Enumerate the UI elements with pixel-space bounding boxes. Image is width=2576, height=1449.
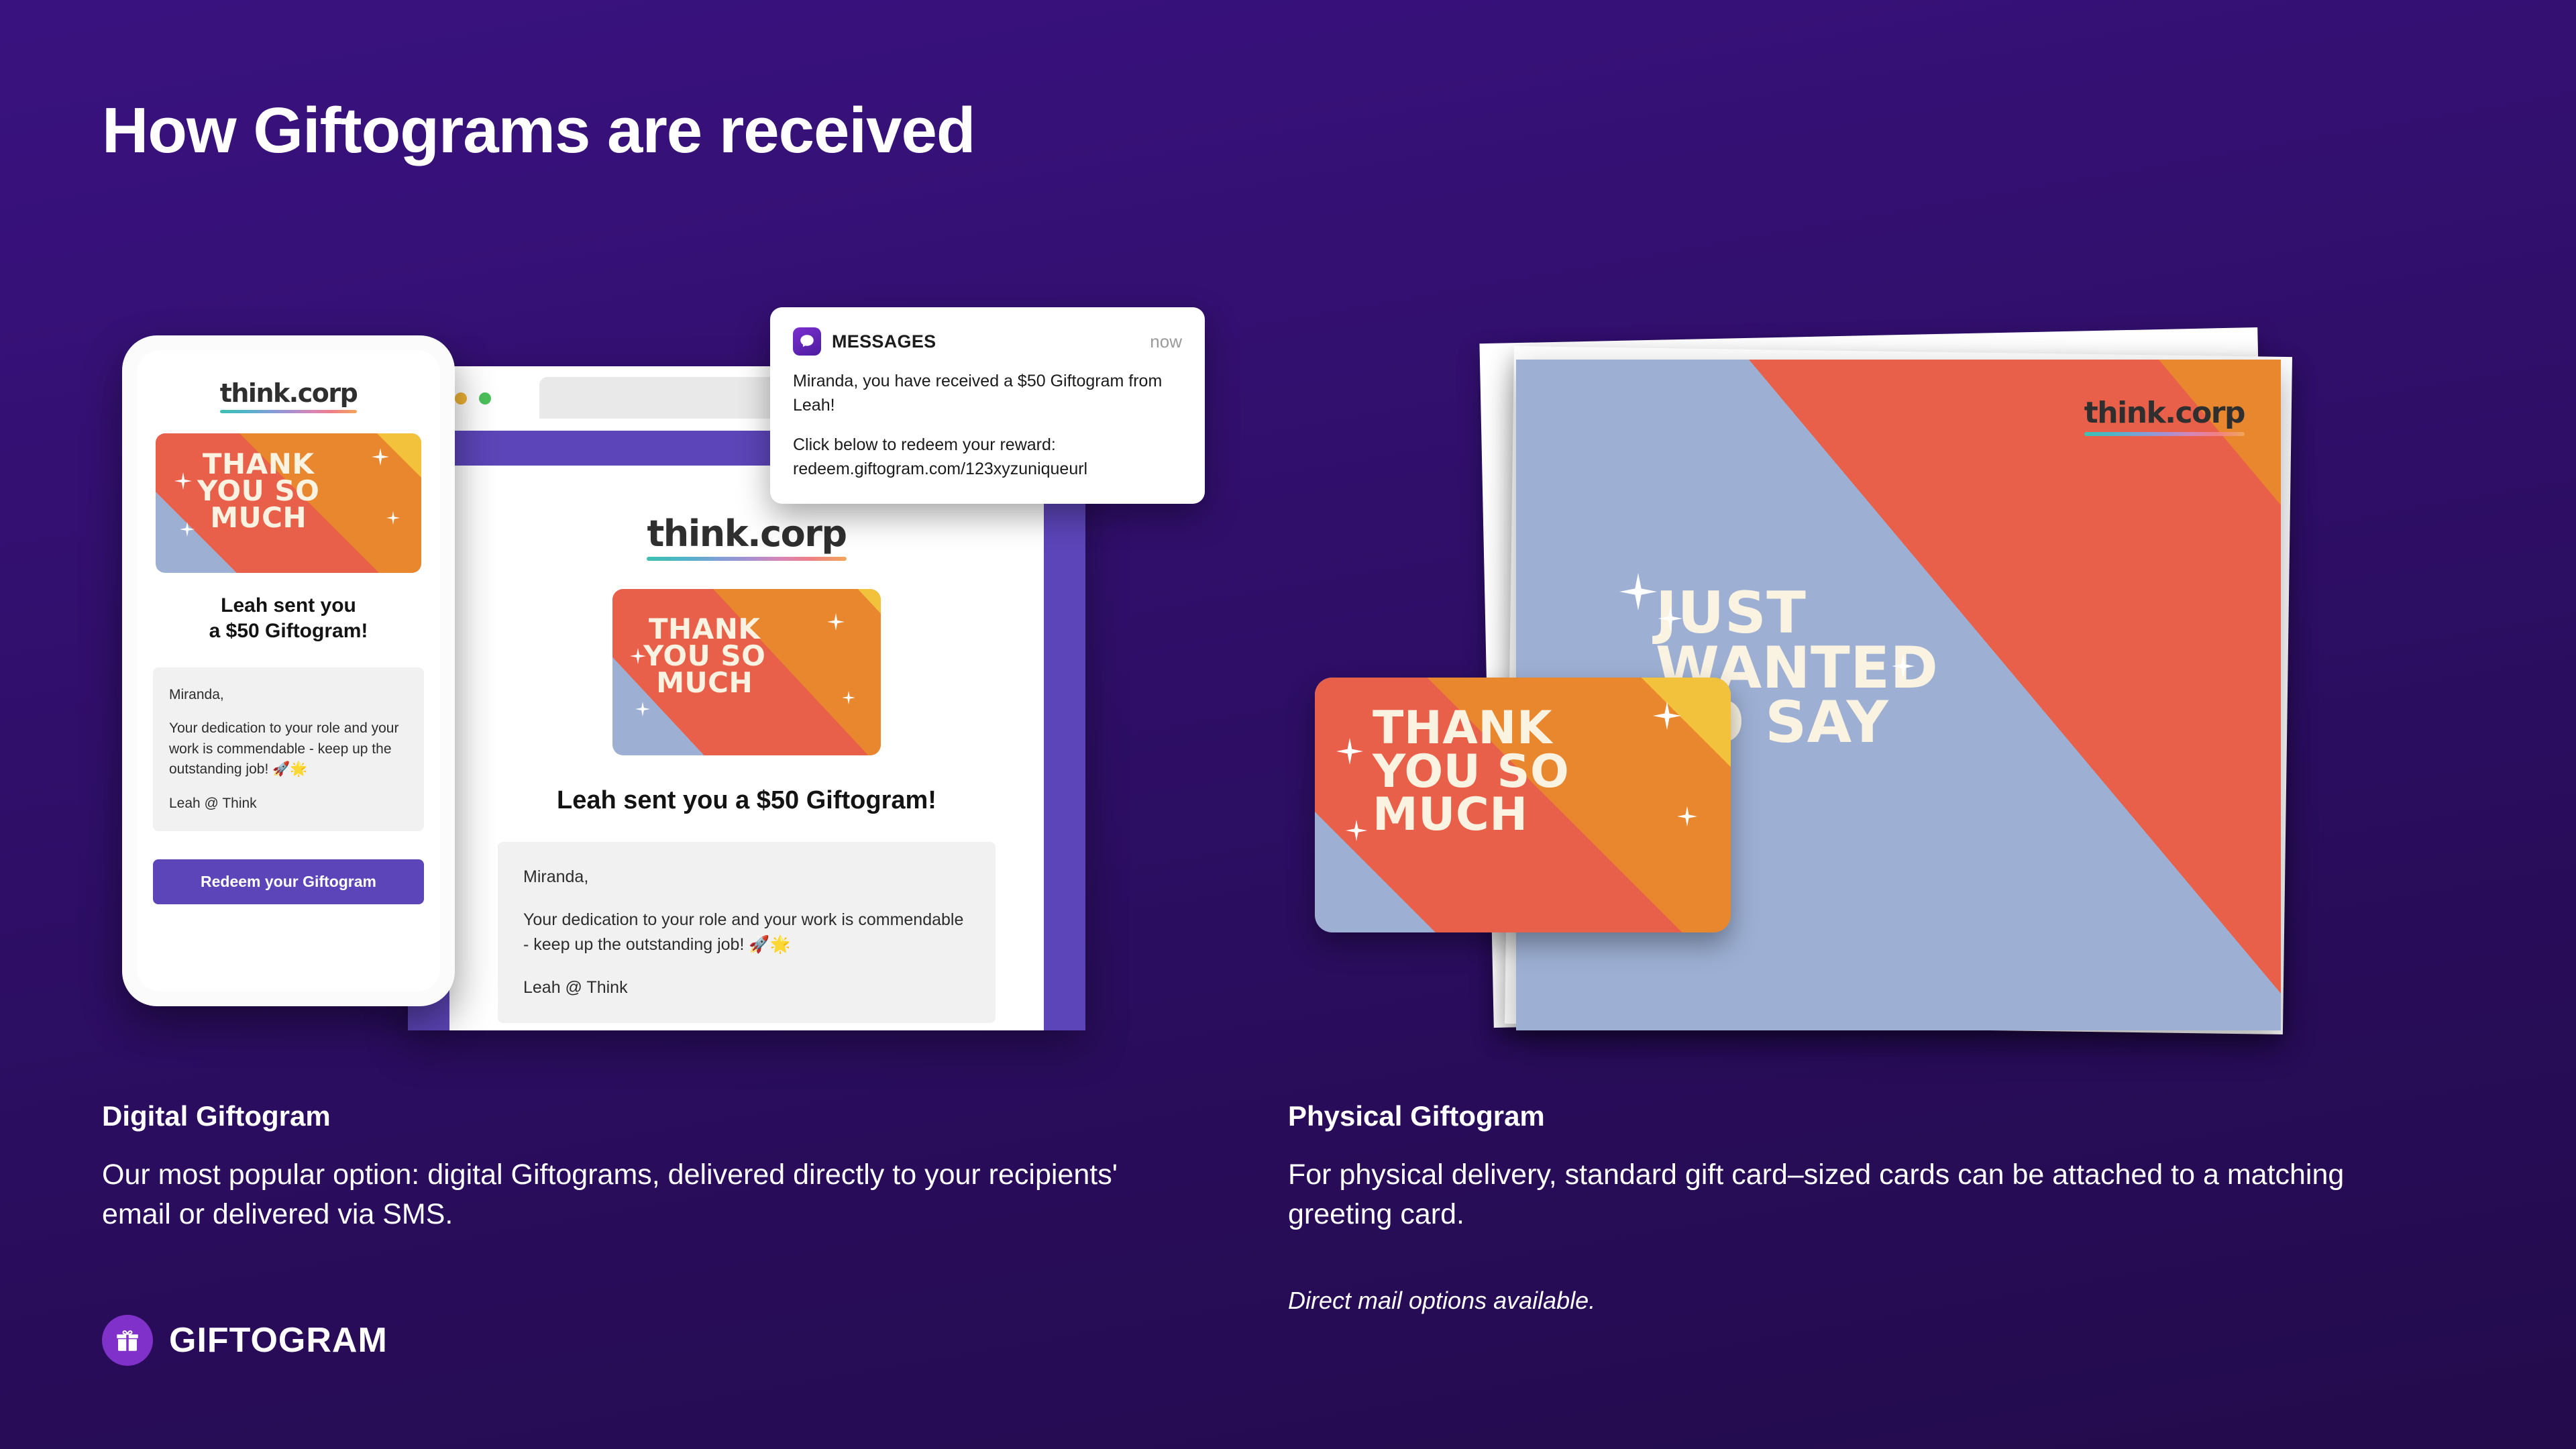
sms-spacer — [793, 418, 1182, 433]
sparkle-icon — [372, 448, 389, 466]
column-digital: Digital Giftogram Our most popular optio… — [102, 1100, 1189, 1234]
giftcard-line3: MUCH — [643, 669, 765, 696]
giftcard-line1: THANK — [1373, 707, 1569, 751]
physical-mockup-group: think.corp JUST WANTED TO SAY THANK — [1315, 322, 2361, 1060]
giftcard-art-desktop: THANK YOU SO MUCH — [612, 589, 881, 755]
giftcard-line2: YOU SO — [197, 478, 319, 504]
sparkle-icon — [386, 511, 400, 525]
thinkcorp-logo-card: think.corp — [2084, 396, 2245, 436]
email-message-desktop: Miranda, Your dedication to your role an… — [498, 842, 996, 1023]
message-body: Your dedication to your role and your wo… — [169, 718, 408, 780]
sms-message-body: Miranda, you have received a $50 Giftogr… — [793, 369, 1182, 481]
browser-viewport: think.corp THANK YOU SO MUCH — [408, 431, 1085, 1030]
giftcard-line2: YOU SO — [1373, 751, 1569, 794]
sparkle-icon — [180, 522, 195, 537]
phone-email-body: think.corp THANK YOU SO MUCH — [137, 350, 440, 991]
thinkcorp-wordmark: think.corp — [647, 513, 846, 555]
message-greeting: Miranda, — [169, 685, 408, 705]
giftcard-line1: THANK — [643, 616, 765, 643]
thinkcorp-rainbow-underline — [220, 410, 358, 413]
column-heading: Digital Giftogram — [102, 1100, 1189, 1132]
sms-line-3[interactable]: redeem.giftogram.com/123xyzuniqueurl — [793, 457, 1182, 481]
sms-notification-card[interactable]: MESSAGES now Miranda, you have received … — [770, 307, 1205, 504]
thinkcorp-logo-phone: think.corp — [220, 378, 358, 413]
thinkcorp-rainbow-underline — [2084, 432, 2245, 436]
sparkle-icon — [630, 648, 646, 664]
message-greeting: Miranda, — [523, 865, 970, 890]
sms-line-2: Click below to redeem your reward: — [793, 433, 1182, 457]
thinkcorp-logo-desktop: think.corp — [647, 513, 846, 561]
sms-app-name: MESSAGES — [832, 331, 1150, 352]
messages-icon — [793, 327, 821, 356]
email-heading-desktop: Leah sent you a $50 Giftogram! — [498, 786, 996, 815]
sms-timestamp: now — [1150, 331, 1182, 352]
digital-mockup-group: think.corp THANK YOU SO MUCH — [0, 0, 1181, 1046]
sparkle-icon — [1336, 738, 1363, 765]
sparkle-icon — [1892, 655, 1915, 678]
thinkcorp-rainbow-underline — [647, 557, 846, 561]
column-body: Our most popular option: digital Giftogr… — [102, 1155, 1189, 1234]
desktop-email-body: think.corp THANK YOU SO MUCH — [449, 466, 1044, 1030]
giftcard-text-desktop: THANK YOU SO MUCH — [643, 616, 765, 696]
giftcard-line3: MUCH — [197, 504, 319, 531]
greeting-card-line1: JUST — [1656, 586, 1938, 641]
email-heading-phone-line1: Leah sent you — [153, 593, 424, 619]
email-message-phone: Miranda, Your dedication to your role an… — [153, 667, 424, 831]
giftcard-line2: YOU SO — [643, 643, 765, 669]
column-physical: Physical Giftogram For physical delivery… — [1288, 1100, 2375, 1315]
sparkle-icon — [1346, 820, 1367, 841]
phone-mockup: think.corp THANK YOU SO MUCH — [122, 335, 455, 1006]
email-heading-phone-line2: a $50 Giftogram! — [153, 619, 424, 644]
column-body: For physical delivery, standard gift car… — [1288, 1155, 2375, 1234]
sms-header: MESSAGES now — [793, 327, 1182, 356]
gift-icon — [102, 1315, 153, 1366]
sms-line-1: Miranda, you have received a $50 Giftogr… — [793, 369, 1182, 418]
redeem-button-phone[interactable]: Redeem your Giftogram — [153, 859, 424, 904]
thinkcorp-wordmark: think.corp — [220, 378, 358, 408]
sparkle-icon — [842, 691, 855, 704]
column-note: Direct mail options available. — [1288, 1287, 2375, 1315]
message-signoff: Leah @ Think — [523, 975, 970, 1001]
sparkle-icon — [174, 472, 192, 490]
sparkle-icon — [635, 702, 650, 716]
sparkle-icon — [1619, 573, 1657, 610]
giftcard-line3: MUCH — [1373, 794, 1569, 837]
minimize-yellow-icon[interactable] — [455, 392, 467, 405]
physical-giftcard-text: THANK YOU SO MUCH — [1373, 707, 1569, 837]
giftogram-brand-logo: GIFTOGRAM — [102, 1315, 388, 1366]
thinkcorp-wordmark: think.corp — [2084, 396, 2245, 430]
sparkle-icon — [1653, 702, 1681, 730]
sparkle-icon — [1677, 806, 1697, 826]
sparkle-icon — [827, 613, 845, 631]
physical-giftcard: THANK YOU SO MUCH — [1315, 678, 1731, 932]
giftcard-line1: THANK — [197, 451, 319, 478]
message-signoff: Leah @ Think — [169, 794, 408, 814]
giftcard-art-phone: THANK YOU SO MUCH — [156, 433, 421, 573]
message-body: Your dedication to your role and your wo… — [523, 908, 970, 958]
column-heading: Physical Giftogram — [1288, 1100, 2375, 1132]
giftcard-text-phone: THANK YOU SO MUCH — [197, 451, 319, 531]
giftogram-brand-name: GIFTOGRAM — [169, 1320, 388, 1360]
maximize-green-icon[interactable] — [479, 392, 491, 405]
sparkle-icon — [1658, 606, 1682, 631]
